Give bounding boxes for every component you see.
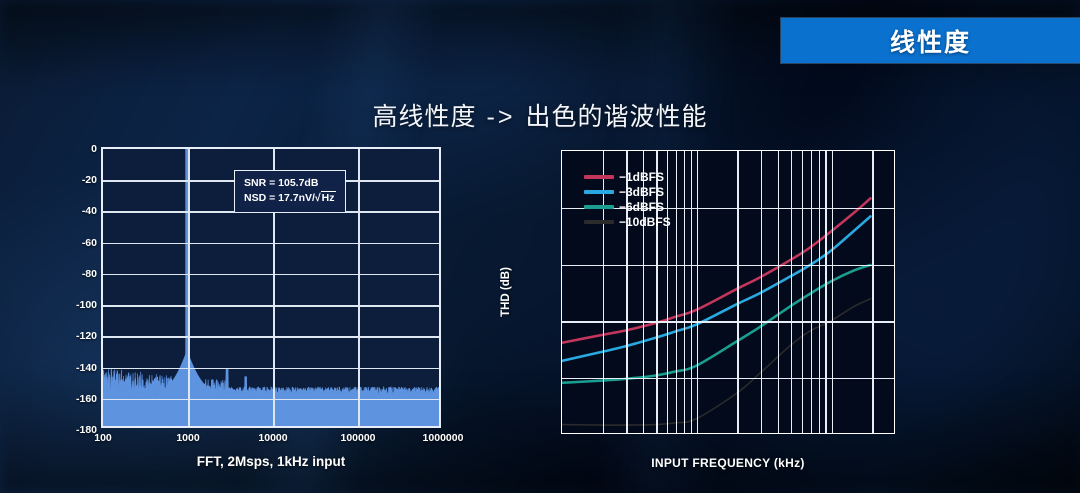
fft-spectrum-area — [103, 351, 439, 426]
section-title-text: 线性度 — [890, 23, 971, 59]
fft-gridline-h — [103, 399, 439, 401]
thd-plot-area: −1dBFS−3dBFS−6dBFS−10dBFS −100−110−120−1… — [561, 150, 895, 434]
headline-right: 出色的谐波性能 — [525, 103, 707, 131]
fft-y-tick-label: 0 — [91, 143, 97, 155]
thd-gridline-v — [819, 151, 820, 433]
fft-y-tick-label: -160 — [76, 393, 97, 405]
fft-y-tick-label: -20 — [82, 174, 97, 186]
thd-legend-label: −1dBFS — [619, 170, 664, 184]
thd-gridline-h — [562, 378, 894, 379]
thd-legend: −1dBFS−3dBFS−6dBFS−10dBFS — [584, 169, 671, 229]
thd-gridline-v — [872, 151, 873, 433]
slide-root: 线性度 高线性度->出色的谐波性能 0-20-40-60-80-100-120-… — [0, 0, 1080, 493]
fft-x-tick-label: 1000000 — [423, 432, 464, 444]
thd-gridline-v — [832, 151, 833, 433]
fft-chart: 0-20-40-60-80-100-120-140-160-1801001000… — [62, 138, 462, 478]
fft-annot-snr: SNR = 105.7dB — [244, 176, 336, 191]
headline-left: 高线性度 — [373, 103, 477, 131]
thd-gridline-v — [737, 151, 738, 433]
thd-gridline-v — [676, 151, 677, 433]
fft-caption: FFT, 2Msps, 1kHz input — [101, 454, 441, 469]
thd-gridline-v — [811, 151, 812, 433]
fft-y-tick-label: -80 — [82, 268, 97, 280]
thd-legend-label: −6dBFS — [619, 200, 664, 214]
fft-gridline-v — [188, 149, 190, 426]
thd-legend-label: −3dBFS — [619, 185, 664, 199]
fft-x-tick-label: 100 — [94, 432, 112, 444]
thd-legend-label: −10dBFS — [619, 215, 671, 229]
headline-arrow: -> — [477, 103, 526, 131]
thd-x-axis-title: INPUT FREQUENCY (kHz) — [561, 456, 895, 470]
fft-y-tick-label: -140 — [76, 362, 97, 374]
fft-y-tick-label: -40 — [82, 205, 97, 217]
fft-gridline-h — [103, 243, 439, 245]
thd-gridline-v — [802, 151, 803, 433]
thd-legend-item: −6dBFS — [584, 199, 671, 214]
thd-gridline-v — [825, 151, 826, 433]
fft-y-tick-label: -60 — [82, 237, 97, 249]
thd-gridline-v — [778, 151, 779, 433]
thd-legend-item: −1dBFS — [584, 169, 671, 184]
thd-gridline-v — [791, 151, 792, 433]
fft-annotation-box: SNR = 105.7dB NSD = 17.7nV/√Hz — [234, 170, 346, 213]
thd-legend-item: −10dBFS — [584, 214, 671, 229]
fft-gridline-v — [358, 149, 360, 426]
thd-gridline-h — [562, 321, 894, 322]
fft-y-tick-label: -100 — [76, 299, 97, 311]
thd-chart: −1dBFS−3dBFS−6dBFS−10dBFS −100−110−120−1… — [500, 138, 930, 478]
thd-gridline-v — [691, 151, 692, 433]
thd-gridline-h — [562, 265, 894, 266]
thd-legend-swatch — [584, 175, 614, 179]
thd-curve — [562, 299, 870, 425]
fft-x-tick-label: 100000 — [340, 432, 375, 444]
fft-gridline-h — [103, 305, 439, 307]
fft-gridline-h — [103, 274, 439, 276]
fft-x-tick-label: 10000 — [258, 432, 287, 444]
thd-gridline-v — [761, 151, 762, 433]
thd-legend-swatch — [584, 220, 614, 224]
fft-y-tick-label: -120 — [76, 330, 97, 342]
thd-legend-item: −3dBFS — [584, 184, 671, 199]
thd-gridline-v — [684, 151, 685, 433]
fft-gridline-h — [103, 368, 439, 370]
thd-y-axis-title: THD (dB) — [500, 267, 512, 317]
fft-gridline-h — [103, 336, 439, 338]
fft-x-tick-label: 1000 — [176, 432, 199, 444]
section-title-banner: 线性度 — [781, 18, 1080, 63]
thd-gridline-v — [697, 151, 698, 433]
thd-legend-swatch — [584, 190, 614, 194]
thd-legend-swatch — [584, 205, 614, 209]
fft-annot-nsd: NSD = 17.7nV/√Hz — [244, 191, 336, 206]
page-headline: 高线性度->出色的谐波性能 — [0, 97, 1080, 133]
